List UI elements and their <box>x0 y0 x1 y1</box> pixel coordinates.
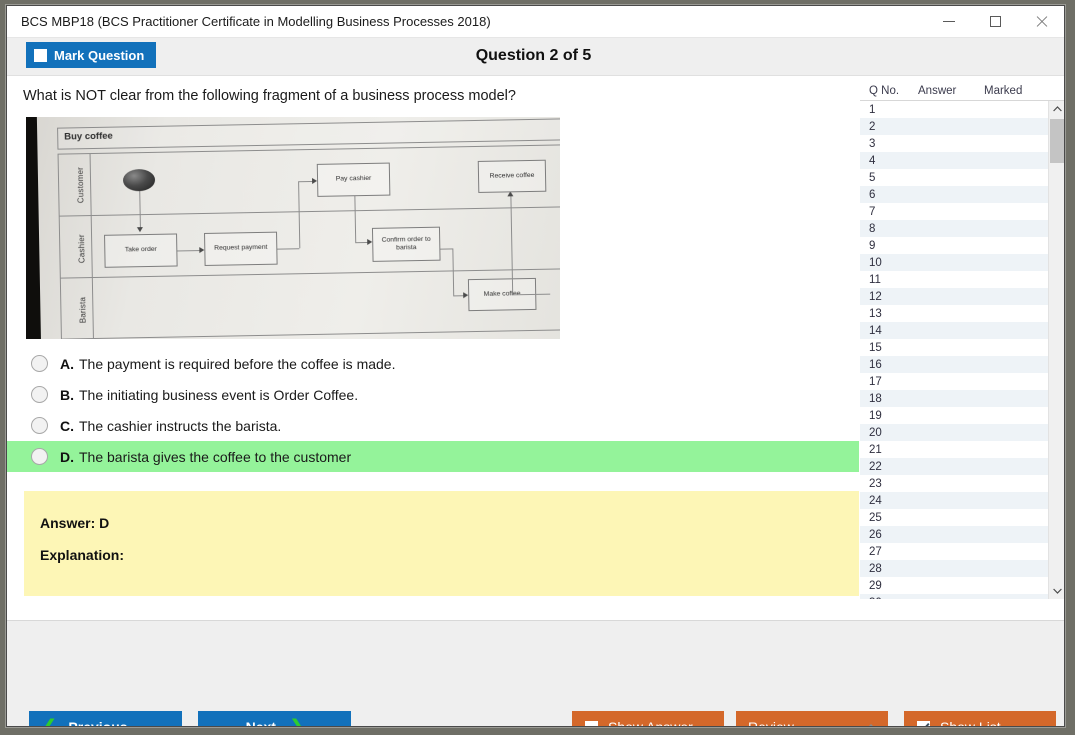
cell-qno: 1 <box>860 104 918 116</box>
question-list-row[interactable]: 4 <box>860 152 1064 169</box>
cell-qno: 29 <box>860 580 918 592</box>
question-list-row[interactable]: 13 <box>860 305 1064 322</box>
answer-radio-a[interactable] <box>31 355 48 372</box>
cell-qno: 19 <box>860 410 918 422</box>
explanation-panel: Answer: D Explanation: <box>24 491 859 596</box>
question-list-scrollbar[interactable] <box>1048 101 1064 599</box>
answer-text-c: The cashier instructs the barista. <box>79 418 281 434</box>
show-answer-button[interactable]: Show Answer <box>572 711 724 727</box>
question-list-row[interactable]: 20 <box>860 424 1064 441</box>
question-pane: What is NOT clear from the following fra… <box>7 76 859 620</box>
cell-qno: 22 <box>860 461 918 473</box>
cell-qno: 26 <box>860 529 918 541</box>
question-list-row[interactable]: 5 <box>860 169 1064 186</box>
question-list-row[interactable]: 18 <box>860 390 1064 407</box>
answer-option-c[interactable]: C. The cashier instructs the barista. <box>7 410 859 441</box>
scroll-up-icon[interactable] <box>1049 101 1065 117</box>
column-header-answer: Answer <box>918 85 984 97</box>
question-list-row[interactable]: 12 <box>860 288 1064 305</box>
cell-qno: 11 <box>860 274 918 286</box>
cell-qno: 14 <box>860 325 918 337</box>
question-list-row[interactable]: 22 <box>860 458 1064 475</box>
cell-qno: 24 <box>860 495 918 507</box>
cell-qno: 15 <box>860 342 918 354</box>
review-label: Review <box>748 719 794 727</box>
cell-qno: 20 <box>860 427 918 439</box>
cell-qno: 12 <box>860 291 918 303</box>
cell-qno: 3 <box>860 138 918 150</box>
scrollbar-thumb[interactable] <box>1050 119 1064 163</box>
question-list-row[interactable]: 10 <box>860 254 1064 271</box>
answer-letter-b: B. <box>60 387 74 403</box>
show-answer-label: Show Answer <box>608 719 693 727</box>
maximize-button[interactable] <box>972 6 1018 37</box>
answer-radio-d[interactable] <box>31 448 48 465</box>
column-header-qno: Q No. <box>860 85 918 97</box>
diagram-activity-receive-coffee: Receive coffee <box>478 160 547 193</box>
column-header-marked: Marked <box>984 85 1046 97</box>
process-model-image: Buy coffee Customer Cashier Barista <box>26 117 560 339</box>
next-button[interactable]: Next ❯ <box>198 711 351 727</box>
cell-qno: 28 <box>860 563 918 575</box>
question-list-row[interactable]: 23 <box>860 475 1064 492</box>
cell-qno: 21 <box>860 444 918 456</box>
diagram-arrowhead-takeorder <box>137 227 143 232</box>
chevron-right-icon: ❯ <box>290 719 303 727</box>
cell-qno: 13 <box>860 308 918 320</box>
scroll-down-icon[interactable] <box>1049 583 1065 599</box>
answer-letter-a: A. <box>60 356 74 372</box>
diagram-activity-confirm-order-to-barista: Confirm order to barista <box>372 227 441 262</box>
question-list-row[interactable]: 6 <box>860 186 1064 203</box>
body-area: What is NOT clear from the following fra… <box>7 76 1064 727</box>
cell-qno: 4 <box>860 155 918 167</box>
diagram-pool-title: Buy coffee <box>64 131 113 143</box>
question-list-row[interactable]: 25 <box>860 509 1064 526</box>
answer-label: Answer: D <box>40 515 109 531</box>
minimize-button[interactable] <box>926 6 972 37</box>
answer-option-a[interactable]: A. The payment is required before the co… <box>7 348 859 379</box>
diagram-lane-label-barista: Barista <box>78 297 87 323</box>
question-list-row[interactable]: 21 <box>860 441 1064 458</box>
bottom-control-bar: ❮ Previous Next ❯ Show Answer Review Sho… <box>7 620 1064 727</box>
cell-qno: 17 <box>860 376 918 388</box>
exam-application-window: BCS MBP18 (BCS Practitioner Certificate … <box>6 5 1065 727</box>
answer-text-b: The initiating business event is Order C… <box>79 387 358 403</box>
cell-qno: 23 <box>860 478 918 490</box>
cell-qno: 25 <box>860 512 918 524</box>
maximize-icon <box>990 16 1001 27</box>
cell-qno: 9 <box>860 240 918 252</box>
diagram-lane-label-cashier: Cashier <box>77 234 87 263</box>
question-list-row[interactable]: 7 <box>860 203 1064 220</box>
question-list-row[interactable]: 8 <box>860 220 1064 237</box>
diagram-activity-pay-cashier: Pay cashier <box>317 163 391 197</box>
explanation-label: Explanation: <box>40 547 124 563</box>
answer-radio-c[interactable] <box>31 417 48 434</box>
cell-qno: 8 <box>860 223 918 235</box>
previous-label: Previous <box>68 719 127 727</box>
window-title: BCS MBP18 (BCS Practitioner Certificate … <box>21 14 491 29</box>
answer-options-list: A. The payment is required before the co… <box>7 348 859 472</box>
answer-letter-d: D. <box>60 449 74 465</box>
caret-up-icon <box>865 724 877 727</box>
question-list-row[interactable]: 9 <box>860 237 1064 254</box>
chevron-left-icon: ❮ <box>43 719 56 727</box>
diagram-photo-paper: Buy coffee Customer Cashier Barista <box>37 117 560 339</box>
cell-qno: 7 <box>860 206 918 218</box>
header-toolbar: Mark Question Question 2 of 5 <box>7 38 1064 76</box>
cell-qno: 30 <box>860 597 918 600</box>
question-list-row[interactable]: 30 <box>860 594 1064 599</box>
diagram-flow-confirmorder-right <box>440 248 452 249</box>
answer-text-a: The payment is required before the coffe… <box>79 356 395 372</box>
question-list-row[interactable]: 1 <box>860 101 1064 118</box>
answer-radio-b[interactable] <box>31 386 48 403</box>
show-list-button[interactable]: Show List <box>904 711 1056 727</box>
question-list-row[interactable]: 14 <box>860 322 1064 339</box>
cell-qno: 16 <box>860 359 918 371</box>
diagram-lane-label-customer: Customer <box>76 167 86 203</box>
diagram-activity-request-payment: Request payment <box>204 232 278 266</box>
question-list-row[interactable]: 19 <box>860 407 1064 424</box>
diagram-activity-take-order: Take order <box>104 233 178 267</box>
question-text: What is NOT clear from the following fra… <box>23 88 516 104</box>
close-button[interactable] <box>1018 6 1064 37</box>
answer-letter-c: C. <box>60 418 74 434</box>
question-list-row[interactable]: 24 <box>860 492 1064 509</box>
question-list-row[interactable]: 3 <box>860 135 1064 152</box>
cell-qno: 18 <box>860 393 918 405</box>
show-list-label: Show List <box>940 719 1001 727</box>
question-list-header: Q No. Answer Marked <box>860 76 1064 101</box>
close-icon <box>1035 16 1047 28</box>
title-bar: BCS MBP18 (BCS Practitioner Certificate … <box>7 6 1064 38</box>
question-list-rows[interactable]: 1234567891011121314151617181920212223242… <box>860 101 1064 599</box>
show-answer-checkbox[interactable] <box>585 721 598 728</box>
question-list-row[interactable]: 11 <box>860 271 1064 288</box>
answer-option-d[interactable]: D. The barista gives the coffee to the c… <box>7 441 859 472</box>
question-list-row[interactable]: 15 <box>860 339 1064 356</box>
answer-text-d: The barista gives the coffee to the cust… <box>79 449 351 465</box>
answer-option-b[interactable]: B. The initiating business event is Orde… <box>7 379 859 410</box>
question-list-row[interactable]: 16 <box>860 356 1064 373</box>
question-list-row[interactable]: 2 <box>860 118 1064 135</box>
question-counter: Question 2 of 5 <box>6 47 1064 65</box>
show-list-checkbox[interactable] <box>917 721 930 728</box>
question-list-row[interactable]: 29 <box>860 577 1064 594</box>
cell-qno: 5 <box>860 172 918 184</box>
question-list-row[interactable]: 27 <box>860 543 1064 560</box>
next-label: Next <box>246 719 276 727</box>
cell-qno: 27 <box>860 546 918 558</box>
previous-button[interactable]: ❮ Previous <box>29 711 182 727</box>
question-list-row[interactable]: 28 <box>860 560 1064 577</box>
cell-qno: 6 <box>860 189 918 201</box>
question-list-row[interactable]: 17 <box>860 373 1064 390</box>
question-list-panel: Q No. Answer Marked 12345678910111213141… <box>859 76 1064 620</box>
cell-qno: 10 <box>860 257 918 269</box>
review-dropdown[interactable]: Review <box>736 711 888 727</box>
minimize-icon <box>943 21 955 22</box>
question-list-row[interactable]: 26 <box>860 526 1064 543</box>
cell-qno: 2 <box>860 121 918 133</box>
